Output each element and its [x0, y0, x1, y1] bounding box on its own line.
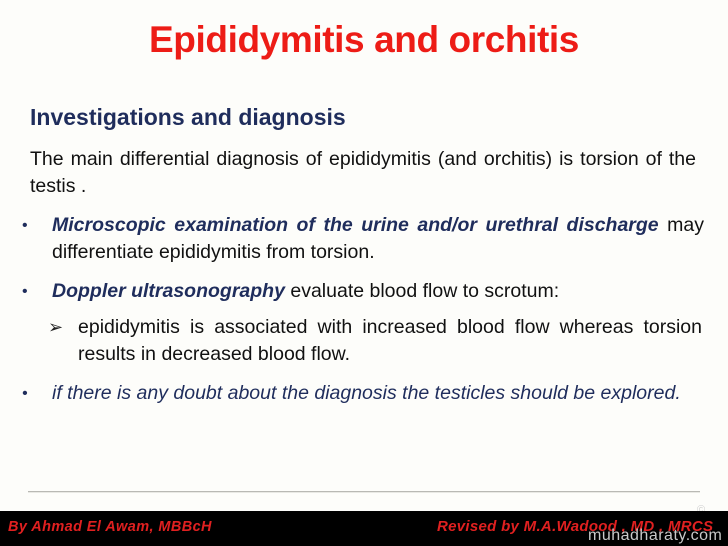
divider: [28, 491, 700, 493]
slide: Epididymitis and orchitis Investigations…: [0, 0, 728, 546]
list-item: • if there is any doubt about the diagno…: [22, 380, 704, 407]
bullet-disc-icon: •: [22, 278, 28, 305]
list-item-rest: evaluate blood flow to scrotum:: [285, 280, 559, 302]
watermark: muhadharaty.com: [588, 527, 722, 545]
footer-author: By Ahmad El Awam, MBBcH: [8, 519, 212, 535]
section-heading: Investigations and diagnosis: [30, 103, 346, 131]
bullet-disc-icon: •: [22, 380, 28, 407]
list-item-label: if there is any doubt about the diagnosi…: [52, 382, 681, 404]
arrow-right-icon: ➢: [48, 314, 63, 341]
list-item: • Microscopic examination of the urine a…: [22, 212, 704, 266]
intro-paragraph: The main differential diagnosis of epidi…: [30, 146, 696, 200]
spacer: [0, 266, 728, 278]
slide-body: The main differential diagnosis of epidi…: [0, 146, 728, 407]
list-item: • Doppler ultrasonography evaluate blood…: [22, 278, 704, 305]
bullet-disc-icon: •: [22, 212, 28, 239]
spacer: [0, 200, 728, 212]
page-title: Epididymitis and orchitis: [0, 18, 728, 62]
list-item-lead: Doppler ultrasonography: [52, 280, 285, 302]
footer-bar: By Ahmad El Awam, MBBcH Revised by M.A.W…: [0, 511, 728, 546]
spacer: [0, 305, 728, 314]
spacer: [0, 368, 728, 380]
list-item-lead: Microscopic examination of the urine and…: [52, 214, 659, 236]
sub-list-item-label: epididymitis is associated with increase…: [78, 316, 702, 365]
sub-list-item: ➢ epididymitis is associated with increa…: [48, 314, 702, 368]
